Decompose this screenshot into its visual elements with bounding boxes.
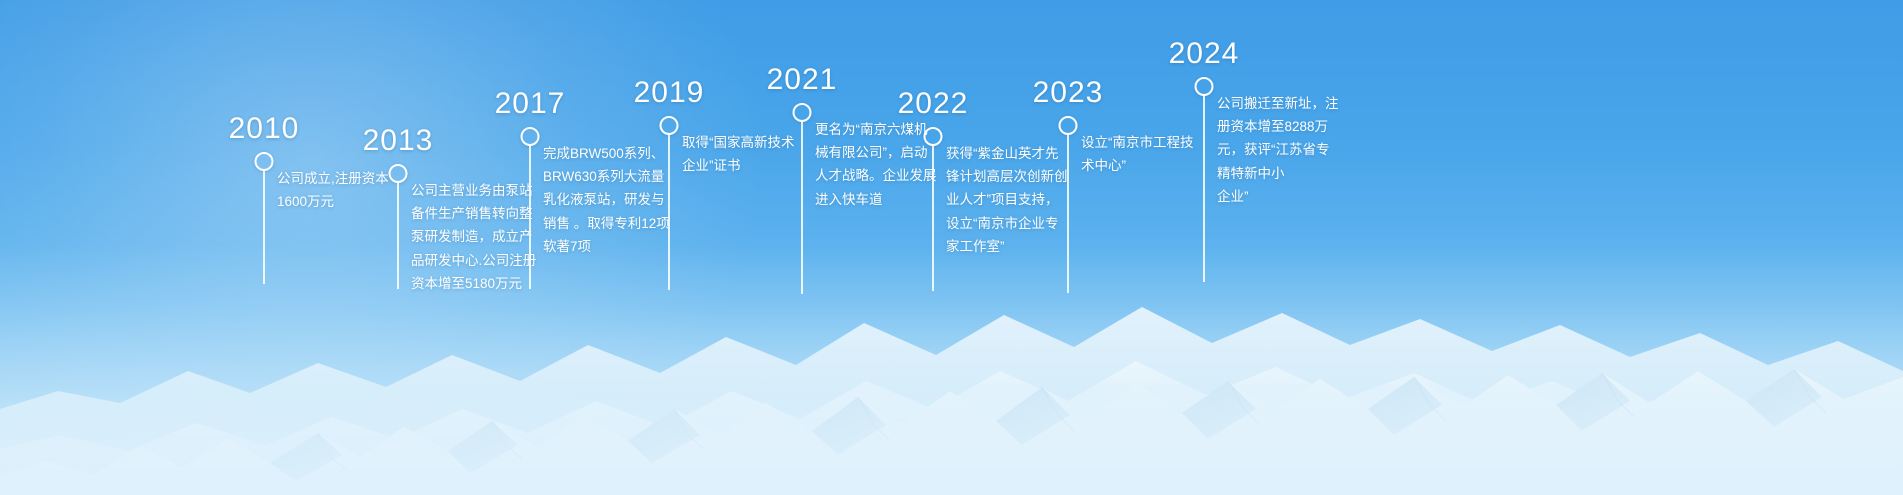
timeline-dot[interactable]: [521, 127, 540, 146]
timeline-dot[interactable]: [1195, 77, 1214, 96]
company-history-timeline: 2010 公司成立,注册资本 1600万元 2013 公司主营业务由泵站 备件生…: [0, 0, 1903, 495]
timeline-year-label: 2024: [1169, 37, 1240, 71]
timeline-year-label: 2010: [229, 112, 300, 146]
timeline-description: 公司搬迁至新址，注 册资本增至8288万 元，获评“江苏省专 精特新中小 企业”: [1217, 92, 1372, 208]
timeline-year-label: 2022: [898, 87, 969, 121]
timeline-stem: [1067, 135, 1069, 293]
timeline-description: 完成BRW500系列、 BRW630系列大流量 乳化液泵站，研发与 销售 。取得…: [543, 142, 698, 258]
timeline-year-label: 2013: [363, 124, 434, 158]
timeline-dot[interactable]: [660, 116, 679, 135]
timeline-year-label: 2017: [495, 87, 566, 121]
timeline-description: 获得“紫金山英才先 锋计划高层次创新创 业人才”项目支持， 设立“南京市企业专 …: [946, 142, 1096, 258]
timeline-dot[interactable]: [924, 127, 943, 146]
timeline-description: 取得“国家高新技术 企业”证书: [682, 131, 837, 177]
timeline-stem: [801, 122, 803, 294]
timeline-year-label: 2019: [634, 76, 705, 110]
timeline-stem: [263, 171, 265, 284]
timeline-dot[interactable]: [1059, 116, 1078, 135]
timeline-year-label: 2021: [767, 63, 838, 97]
timeline-description: 设立“南京市工程技 术中心”: [1081, 131, 1231, 177]
timeline-description: 更名为“南京六煤机 械有限公司”，启动 人才战略。企业发展 进入快车道: [815, 118, 965, 211]
timeline-stem: [668, 135, 670, 290]
timeline-dot[interactable]: [389, 164, 408, 183]
timeline-year-label: 2023: [1033, 76, 1104, 110]
timeline-stem: [1203, 96, 1205, 282]
timeline-stem: [529, 146, 531, 289]
timeline-dot[interactable]: [793, 103, 812, 122]
timeline-stem: [932, 146, 934, 291]
timeline-stem: [397, 183, 399, 289]
timeline-dot[interactable]: [255, 152, 274, 171]
